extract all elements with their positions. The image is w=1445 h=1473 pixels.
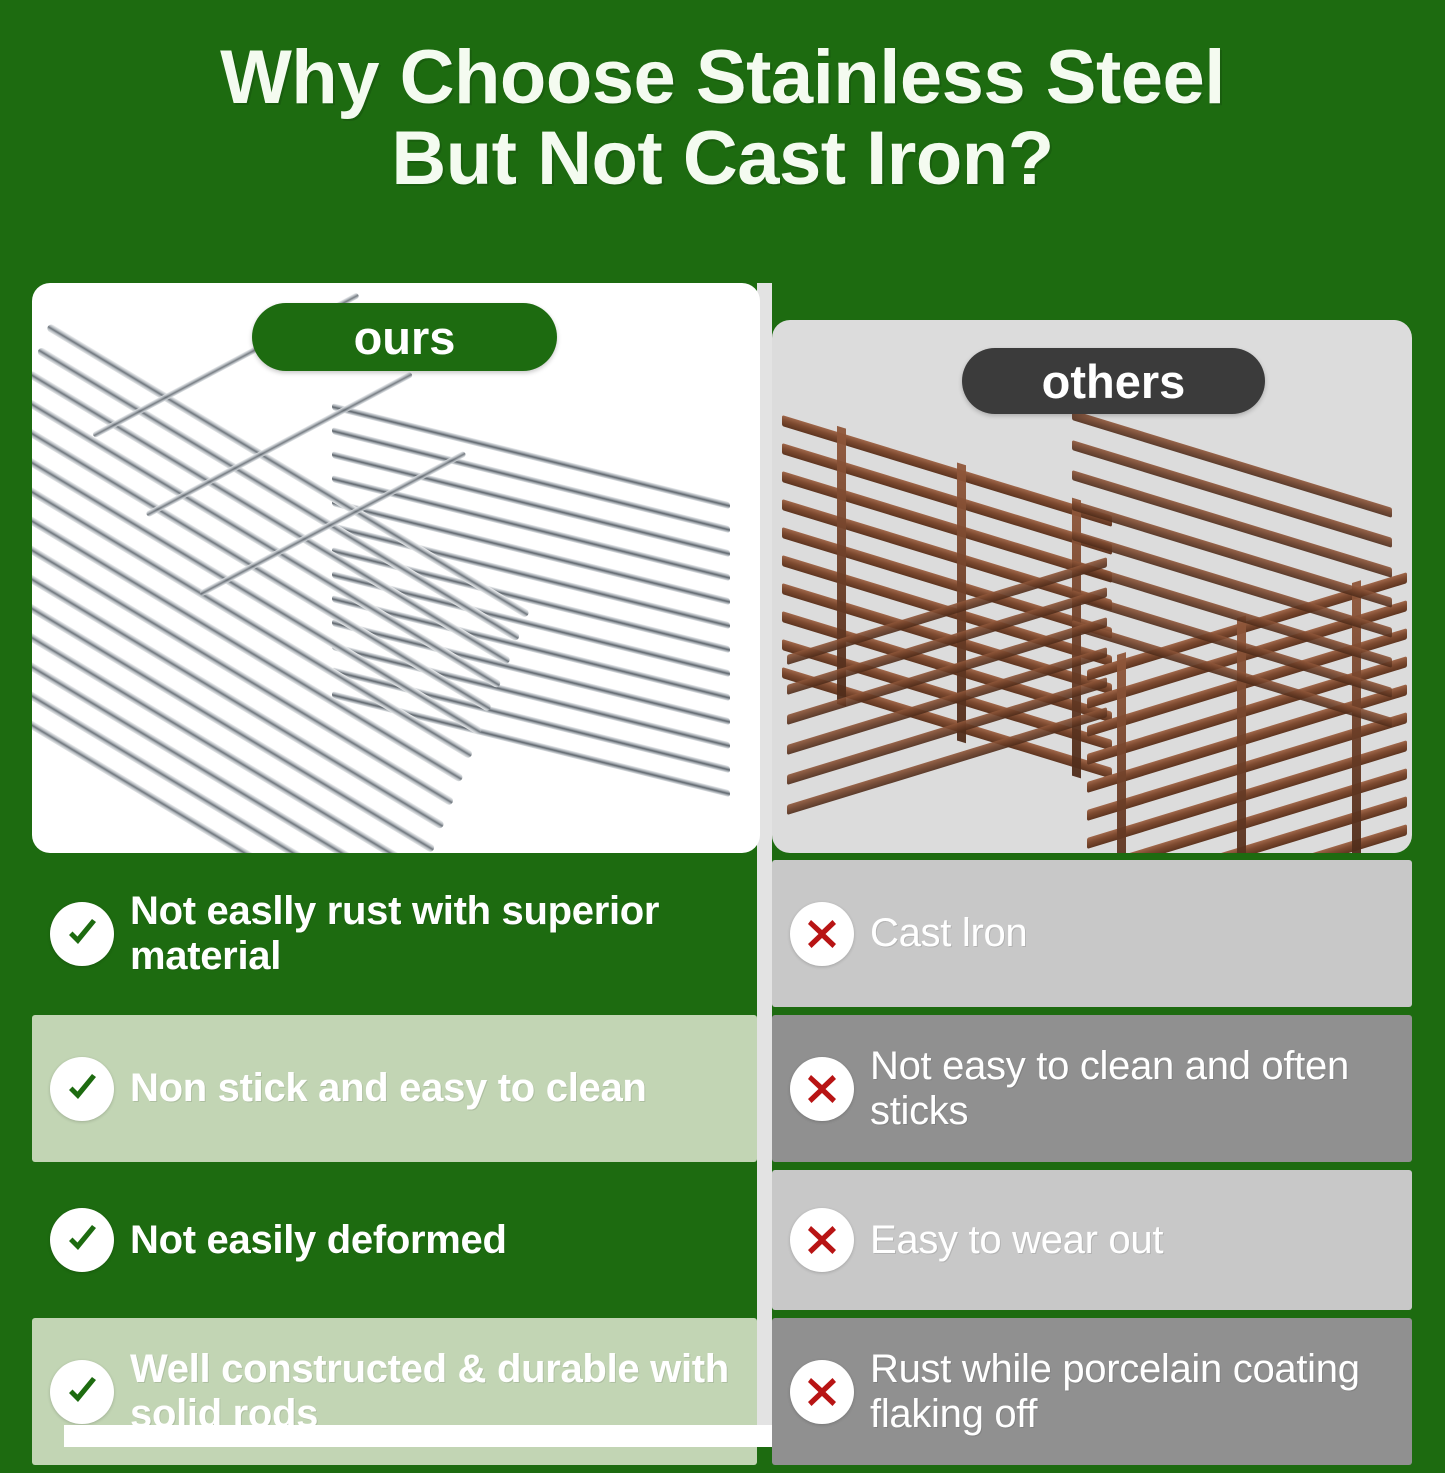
- list-item: Not easily deformed: [32, 1170, 757, 1310]
- list-item-label: Rust while porcelain coating flaking off: [870, 1347, 1396, 1437]
- page-title: Why Choose Stainless Steel But Not Cast …: [0, 38, 1445, 199]
- list-item-label: Not easily deformed: [130, 1218, 507, 1263]
- x-icon: [790, 1208, 854, 1272]
- others-badge-label: others: [1042, 354, 1186, 409]
- check-icon: [50, 902, 114, 966]
- list-item-label: Well constructed & durable with solid ro…: [130, 1347, 741, 1437]
- list-item-label: Not easlly rust with superior material: [130, 889, 741, 979]
- feature-comparison: Not easlly rust with superior material N…: [0, 860, 1445, 1445]
- ours-badge-label: ours: [354, 310, 456, 365]
- ours-feature-list: Not easlly rust with superior material N…: [32, 860, 757, 1473]
- list-item: Not easy to clean and often sticks: [772, 1015, 1412, 1162]
- list-item-label: Non stick and easy to clean: [130, 1066, 647, 1111]
- list-item: Easy to wear out: [772, 1170, 1412, 1310]
- list-item-label: Not easy to clean and often sticks: [870, 1044, 1396, 1134]
- check-icon: [50, 1057, 114, 1121]
- list-item: Not easlly rust with superior material: [32, 860, 757, 1007]
- title-line-1: Why Choose Stainless Steel: [220, 35, 1225, 120]
- x-icon: [790, 1057, 854, 1121]
- others-feature-list: Cast lron Not easy to clean and often st…: [772, 860, 1412, 1473]
- x-icon: [790, 902, 854, 966]
- list-item-label: Easy to wear out: [870, 1218, 1163, 1263]
- title-line-2: But Not Cast Iron?: [0, 119, 1445, 200]
- x-icon: [790, 1360, 854, 1424]
- next-row-peek: [64, 1425, 789, 1447]
- list-item: Non stick and easy to clean: [32, 1015, 757, 1162]
- others-badge: others: [962, 348, 1265, 414]
- check-icon: [50, 1360, 114, 1424]
- ours-badge: ours: [252, 303, 557, 371]
- check-icon: [50, 1208, 114, 1272]
- list-item-label: Cast lron: [870, 911, 1027, 956]
- list-item: Rust while porcelain coating flaking off: [772, 1318, 1412, 1465]
- list-item: Cast lron: [772, 860, 1412, 1007]
- infographic-page: Why Choose Stainless Steel But Not Cast …: [0, 0, 1445, 1445]
